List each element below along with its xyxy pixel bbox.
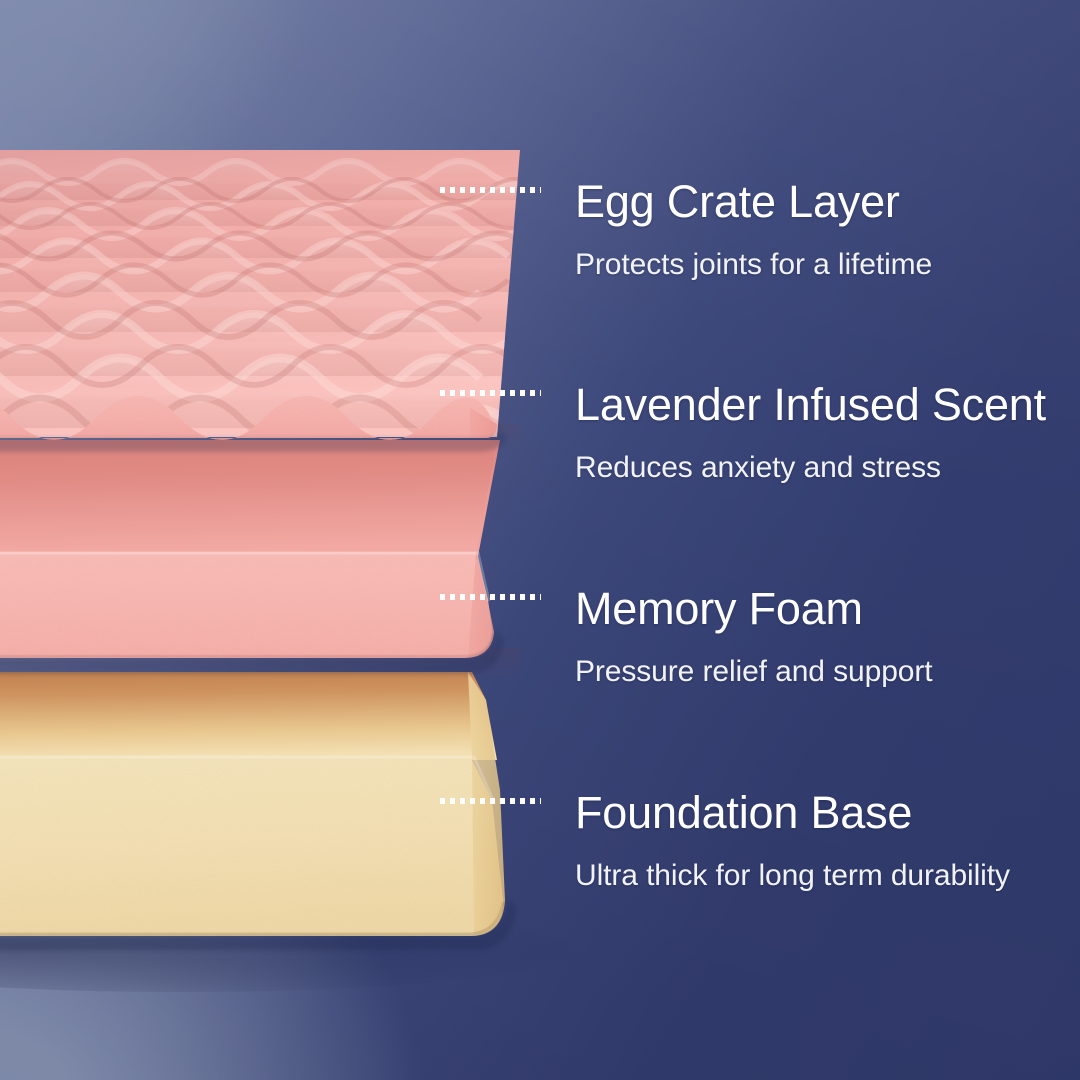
callout-text-block: Foundation Base Ultra thick for long ter… xyxy=(575,789,1080,892)
callout-text-block: Egg Crate Layer Protects joints for a li… xyxy=(575,178,1080,281)
callout-title: Memory Foam xyxy=(575,585,1080,632)
callout-list: Egg Crate Layer Protects joints for a li… xyxy=(0,0,1080,1080)
leader-line-icon xyxy=(440,594,541,600)
leader-line-icon xyxy=(440,187,541,193)
callout-title: Foundation Base xyxy=(575,789,1080,836)
callout-subtitle: Protects joints for a lifetime xyxy=(575,249,1080,281)
callout-title: Lavender Infused Scent xyxy=(575,381,1080,428)
leader-line-icon xyxy=(440,798,541,804)
callout-title: Egg Crate Layer xyxy=(575,178,1080,225)
leader-line-icon xyxy=(440,390,541,396)
callout-text-block: Memory Foam Pressure relief and support xyxy=(575,585,1080,688)
callout-subtitle: Ultra thick for long term durability xyxy=(575,860,1080,892)
infographic-canvas: Egg Crate Layer Protects joints for a li… xyxy=(0,0,1080,1080)
callout-subtitle: Reduces anxiety and stress xyxy=(575,452,1080,484)
callout-text-block: Lavender Infused Scent Reduces anxiety a… xyxy=(575,381,1080,484)
callout-subtitle: Pressure relief and support xyxy=(575,656,1080,688)
